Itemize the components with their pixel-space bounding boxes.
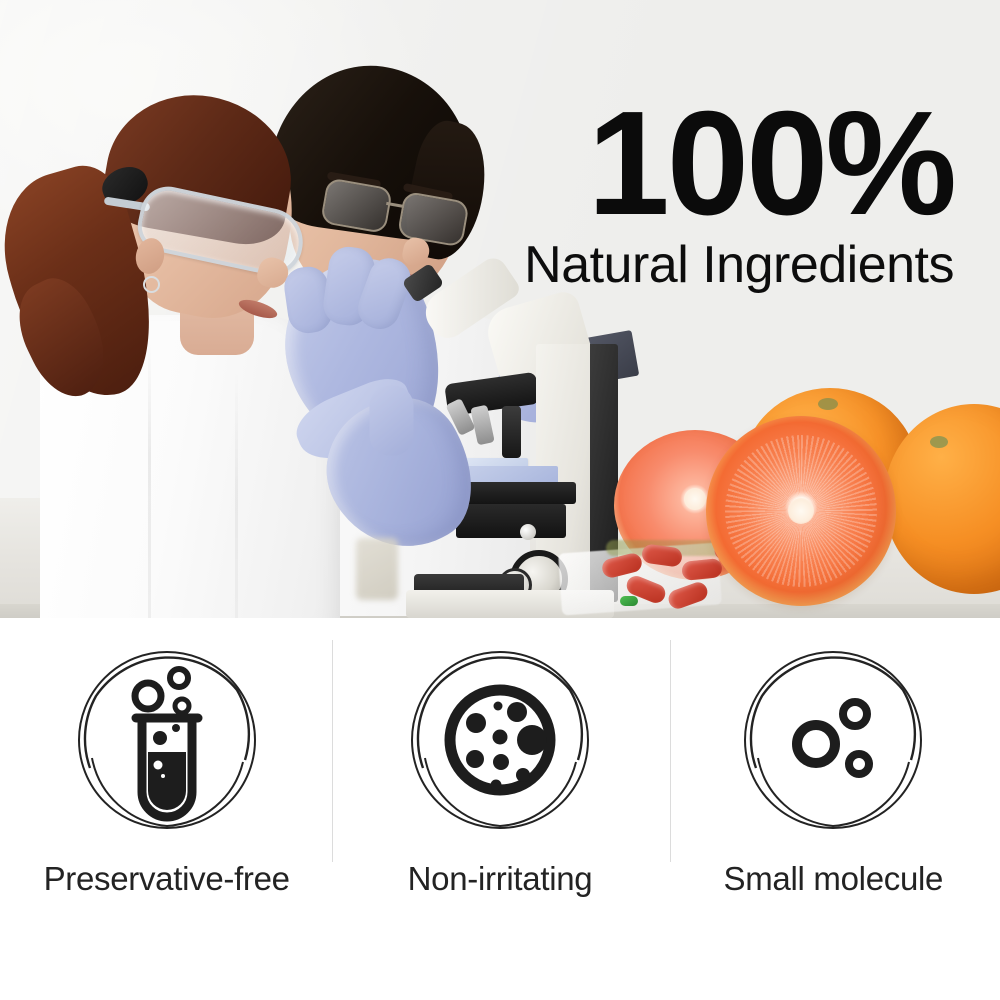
glove-finger: [369, 386, 413, 456]
headline-percent: 100%: [524, 96, 954, 232]
product-feature-banner: 100% Natural Ingredients: [0, 0, 1000, 1000]
microscope-objective: [502, 406, 521, 458]
features-panel: Preservative-free: [0, 618, 1000, 1000]
microscope-small-knob: [520, 524, 536, 540]
feature-small-molecule[interactable]: Small molecule: [667, 618, 1000, 1000]
orange-stem: [930, 436, 948, 448]
red-capsule: [681, 558, 723, 581]
green-capsule: [620, 596, 638, 606]
microscope-stage-block: [456, 504, 566, 538]
orange-core: [684, 488, 706, 510]
microscope-objective: [470, 405, 495, 446]
test-tube-icon: [62, 640, 272, 850]
coat-fold: [235, 370, 238, 618]
blurred-lab-container: [356, 538, 398, 600]
orange-core: [788, 498, 814, 524]
headline-block: 100% Natural Ingredients: [524, 96, 954, 293]
halved-orange-front: [706, 416, 896, 606]
feature-label: Small molecule: [724, 860, 944, 898]
red-capsule: [666, 580, 710, 612]
molecule-rings-icon: [728, 640, 938, 850]
petri-dish-icon: [395, 640, 605, 850]
earring: [143, 276, 160, 293]
feature-label: Preservative-free: [44, 860, 290, 898]
feature-preservative-free[interactable]: Preservative-free: [0, 618, 333, 1000]
orange-stem: [818, 398, 838, 410]
feature-row: Preservative-free: [0, 618, 1000, 1000]
feature-label: Non-irritating: [408, 860, 593, 898]
coat-fold: [148, 342, 151, 618]
headline-subtitle: Natural Ingredients: [524, 238, 954, 293]
feature-non-irritating[interactable]: Non-irritating: [333, 618, 666, 1000]
